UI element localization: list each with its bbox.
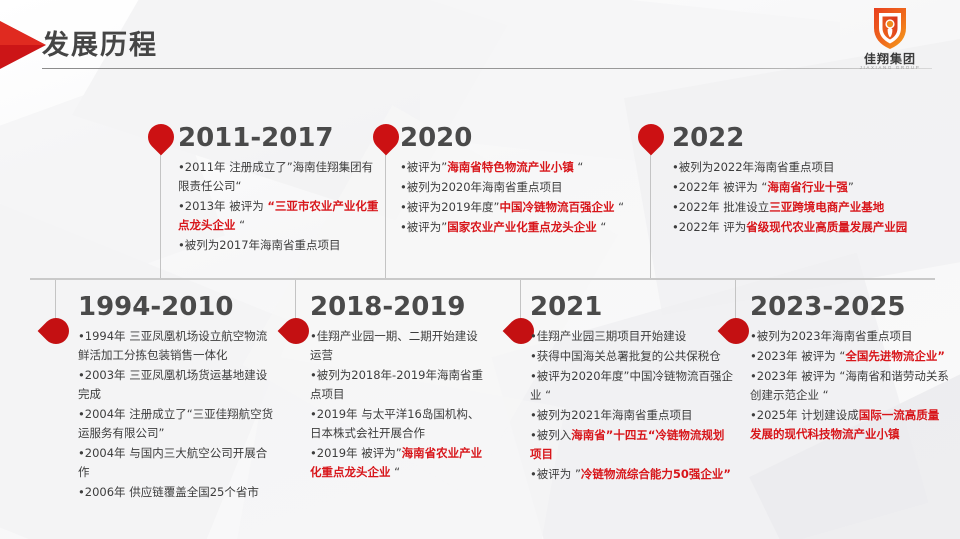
entry-highlight-text: 全国先进物流企业” (845, 349, 945, 363)
entry-highlight-text: 国家农业产业化重点龙头企业 (447, 220, 597, 234)
drop-marker-1994-2010[interactable] (37, 313, 74, 350)
entry-text: •2022年 被评为 “ (672, 180, 767, 194)
timeline-stem (520, 280, 521, 320)
entry-item: •被评为”国家农业产业化重点龙头企业 “ (400, 218, 640, 237)
timeline-stem (650, 150, 651, 278)
entry-text: •被评为” (400, 160, 447, 174)
entry-text: •被列为2022年海南省重点项目 (672, 160, 835, 174)
entry-highlight-text: 冷链物流综合能力50强企业” (581, 467, 731, 481)
entry-item: •2003年 三亚凤凰机场货运基地建设完成 (78, 366, 278, 404)
entry-item: •2004年 与国内三大航空公司开展合作 (78, 444, 278, 482)
timeline-entry-2021: 2021•佳翔产业园三期项目开始建设•获得中国海关总署批复的公共保税仓•被评为2… (530, 292, 735, 485)
entry-text: •佳翔产业园三期项目开始建设 (530, 329, 686, 343)
entry-highlight-text: 三亚跨境电商产业基地 (769, 200, 884, 214)
pin-marker-2011-2017[interactable] (142, 119, 179, 156)
entry-item: •2019年 被评为”海南省农业产业化重点龙头企业 “ (310, 444, 488, 482)
entry-text: •2022年 批准设立 (672, 200, 769, 214)
entry-item: •2023年 被评为 “海南省和谐劳动关系创建示范企业 “ (750, 367, 950, 405)
entry-year-label: 2018-2019 (310, 292, 488, 322)
entry-text: •2022年 评为 (672, 220, 746, 234)
entry-item: •佳翔产业园一期、二期开始建设运营 (310, 327, 488, 365)
entry-text: •被列为2017年海南省重点项目 (178, 238, 341, 252)
entry-item-list: •1994年 三亚凤凰机场设立航空物流鲜活加工分拣包装销售一体化•2003年 三… (78, 327, 278, 502)
entry-text: “ (391, 465, 401, 479)
page-title: 发展历程 (42, 23, 158, 62)
entry-highlight-text: 海南省特色物流产业小镇 (447, 160, 574, 174)
entry-highlight-text: 省级现代农业高质量发展产业园 (746, 220, 907, 234)
entry-text: •被评为” (400, 220, 447, 234)
entry-text: •被评为2019年度” (400, 200, 500, 214)
entry-item: •被评为2020年度”中国冷链物流百强企业 “ (530, 367, 735, 405)
entry-text: •佳翔产业园一期、二期开始建设运营 (310, 329, 478, 362)
entry-year-label: 1994-2010 (78, 292, 278, 322)
entry-text: •2019年 与太平洋16岛国机构、日本株式会社开展合作 (310, 407, 479, 440)
entry-text: •被列为2020年海南省重点项目 (400, 180, 563, 194)
entry-text: •2011年 注册成立了”海南佳翔集团有限责任公司“ (178, 160, 373, 193)
entry-text: •2023年 被评为 “ (750, 349, 845, 363)
entry-year-label: 2011-2017 (178, 123, 383, 153)
entry-text: •2019年 被评为” (310, 446, 402, 460)
entry-text: •2013年 被评为 (178, 199, 267, 213)
entry-item-list: •2011年 注册成立了”海南佳翔集团有限责任公司“•2013年 被评为 “三亚… (178, 158, 383, 255)
entry-text: “ (236, 218, 246, 232)
entry-item: •1994年 三亚凤凰机场设立航空物流鲜活加工分拣包装销售一体化 (78, 327, 278, 365)
timeline-axis (30, 278, 935, 280)
entry-text: •被列为2023年海南省重点项目 (750, 329, 913, 343)
slide-header: 发展历程 (0, 0, 960, 92)
entry-text: •2025年 计划建设成 (750, 408, 859, 422)
entry-year-label: 2023-2025 (750, 292, 950, 322)
entry-item-list: •被评为”海南省特色物流产业小镇 “•被列为2020年海南省重点项目•被评为20… (400, 158, 640, 237)
entry-text: •被评为 ” (530, 467, 581, 481)
company-logo: 佳翔集团 JIAXIANG GROUP (842, 4, 938, 74)
entry-item: •被评为 ”冷链物流综合能力50强企业” (530, 465, 735, 484)
slide-canvas: 发展历程 佳翔集团 JIAXIANG G (0, 0, 960, 539)
entry-text: “ (574, 160, 584, 174)
entry-text: •2023年 被评为 “海南省和谐劳动关系创建示范企业 “ (750, 369, 949, 402)
entry-text: •获得中国海关总署批复的公共保税仓 (530, 349, 721, 363)
timeline-stem (295, 280, 296, 320)
timeline-entry-2011-2017: 2011-2017•2011年 注册成立了”海南佳翔集团有限责任公司“•2013… (178, 123, 383, 256)
entry-item: •2022年 被评为 “海南省行业十强” (672, 178, 940, 197)
entry-item: •被列为2021年海南省重点项目 (530, 406, 735, 425)
timeline-stem (55, 280, 56, 320)
entry-item: •2019年 与太平洋16岛国机构、日本株式会社开展合作 (310, 405, 488, 443)
timeline-entry-2023-2025: 2023-2025•被列为2023年海南省重点项目•2023年 被评为 “全国先… (750, 292, 950, 445)
drop-marker-2018-2019[interactable] (277, 313, 314, 350)
entry-year-label: 2021 (530, 292, 735, 322)
entry-text: •2004年 与国内三大航空公司开展合作 (78, 446, 267, 479)
entry-item: •2013年 被评为 “三亚市农业产业化重点龙头企业 “ (178, 197, 383, 235)
entry-item: •被评为”海南省特色物流产业小镇 “ (400, 158, 640, 177)
entry-item: •2022年 评为省级现代农业高质量发展产业园 (672, 218, 940, 237)
entry-year-label: 2022 (672, 123, 940, 153)
entry-item: •2004年 注册成立了“三亚佳翔航空货运服务有限公司” (78, 405, 278, 443)
timeline-stem (160, 150, 161, 278)
entry-item: •佳翔产业园三期项目开始建设 (530, 327, 735, 346)
entry-highlight-text: 中国冷链物流百强企业 (500, 200, 615, 214)
logo-company-subtitle: JIAXIANG GROUP (842, 65, 938, 70)
timeline-entry-2020: 2020•被评为”海南省特色物流产业小镇 “•被列为2020年海南省重点项目•被… (400, 123, 640, 238)
entry-item: •被评为2019年度”中国冷链物流百强企业 “ (400, 198, 640, 217)
timeline-entry-2018-2019: 2018-2019•佳翔产业园一期、二期开始建设运营•被列为2018年-2019… (310, 292, 488, 483)
entry-text: “ (615, 200, 625, 214)
entry-item: •2023年 被评为 “全国先进物流企业” (750, 347, 950, 366)
timeline-stem (735, 280, 736, 320)
entry-text: •1994年 三亚凤凰机场设立航空物流鲜活加工分拣包装销售一体化 (78, 329, 267, 362)
entry-year-label: 2020 (400, 123, 640, 153)
entry-text: •2004年 注册成立了“三亚佳翔航空货运服务有限公司” (78, 407, 273, 440)
entry-item-list: •被列为2022年海南省重点项目•2022年 被评为 “海南省行业十强”•202… (672, 158, 940, 237)
entry-item: •获得中国海关总署批复的公共保税仓 (530, 347, 735, 366)
entry-text: “ (597, 220, 607, 234)
header-divider (42, 68, 932, 69)
entry-item-list: •佳翔产业园一期、二期开始建设运营•被列为2018年-2019年海南省重点项目•… (310, 327, 488, 482)
shield-logo-icon (842, 4, 938, 50)
timeline-stem (385, 150, 386, 278)
entry-item: •被列为2022年海南省重点项目 (672, 158, 940, 177)
entry-item: •2006年 供应链覆盖全国25个省市 (78, 483, 278, 502)
entry-item: •2011年 注册成立了”海南佳翔集团有限责任公司“ (178, 158, 383, 196)
entry-item: •被列为2017年海南省重点项目 (178, 236, 383, 255)
entry-text: ” (848, 180, 854, 194)
entry-item: •被列为2018年-2019年海南省重点项目 (310, 366, 488, 404)
entry-item: •被列为2023年海南省重点项目 (750, 327, 950, 346)
entry-text: •2006年 供应链覆盖全国25个省市 (78, 485, 259, 499)
entry-text: •被评为2020年度”中国冷链物流百强企业 “ (530, 369, 733, 402)
entry-text: •被列入 (530, 428, 571, 442)
entry-highlight-text: 海南省行业十强 (767, 180, 848, 194)
entry-item-list: •佳翔产业园三期项目开始建设•获得中国海关总署批复的公共保税仓•被评为2020年… (530, 327, 735, 484)
entry-item: •被列入海南省”十四五“冷链物流规划项目 (530, 426, 735, 464)
entry-item-list: •被列为2023年海南省重点项目•2023年 被评为 “全国先进物流企业”•20… (750, 327, 950, 444)
timeline-entry-1994-2010: 1994-2010•1994年 三亚凤凰机场设立航空物流鲜活加工分拣包装销售一体… (78, 292, 278, 503)
entry-text: •被列为2018年-2019年海南省重点项目 (310, 368, 483, 401)
entry-text: •2003年 三亚凤凰机场货运基地建设完成 (78, 368, 267, 401)
entry-item: •2025年 计划建设成国际一流高质量发展的现代科技物流产业小镇 (750, 406, 950, 444)
entry-text: •被列为2021年海南省重点项目 (530, 408, 693, 422)
entry-item: •被列为2020年海南省重点项目 (400, 178, 640, 197)
entry-item: •2022年 批准设立三亚跨境电商产业基地 (672, 198, 940, 217)
timeline-entry-2022: 2022•被列为2022年海南省重点项目•2022年 被评为 “海南省行业十强”… (672, 123, 940, 238)
